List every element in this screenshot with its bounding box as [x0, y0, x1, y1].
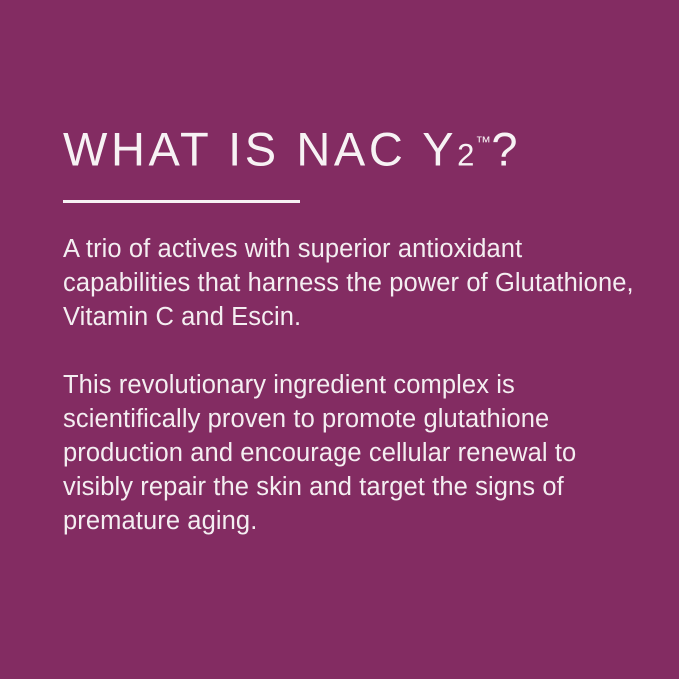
superscript-two: 2 — [457, 138, 475, 173]
page-title-prefix: WHAT IS NAC Y — [63, 123, 457, 176]
paragraph-1: A trio of actives with superior antioxid… — [63, 232, 638, 334]
body-copy: A trio of actives with superior antioxid… — [63, 232, 638, 538]
trademark-icon: ™ — [475, 134, 491, 151]
page-title-suffix: ? — [491, 123, 517, 176]
paragraph-2: This revolutionary ingredient complex is… — [63, 368, 638, 538]
content-block: WHAT IS NAC Y2™? A trio of actives with … — [63, 120, 638, 538]
promo-panel: WHAT IS NAC Y2™? A trio of actives with … — [0, 0, 679, 679]
title-divider — [63, 200, 300, 203]
page-title: WHAT IS NAC Y2™? — [63, 120, 638, 181]
